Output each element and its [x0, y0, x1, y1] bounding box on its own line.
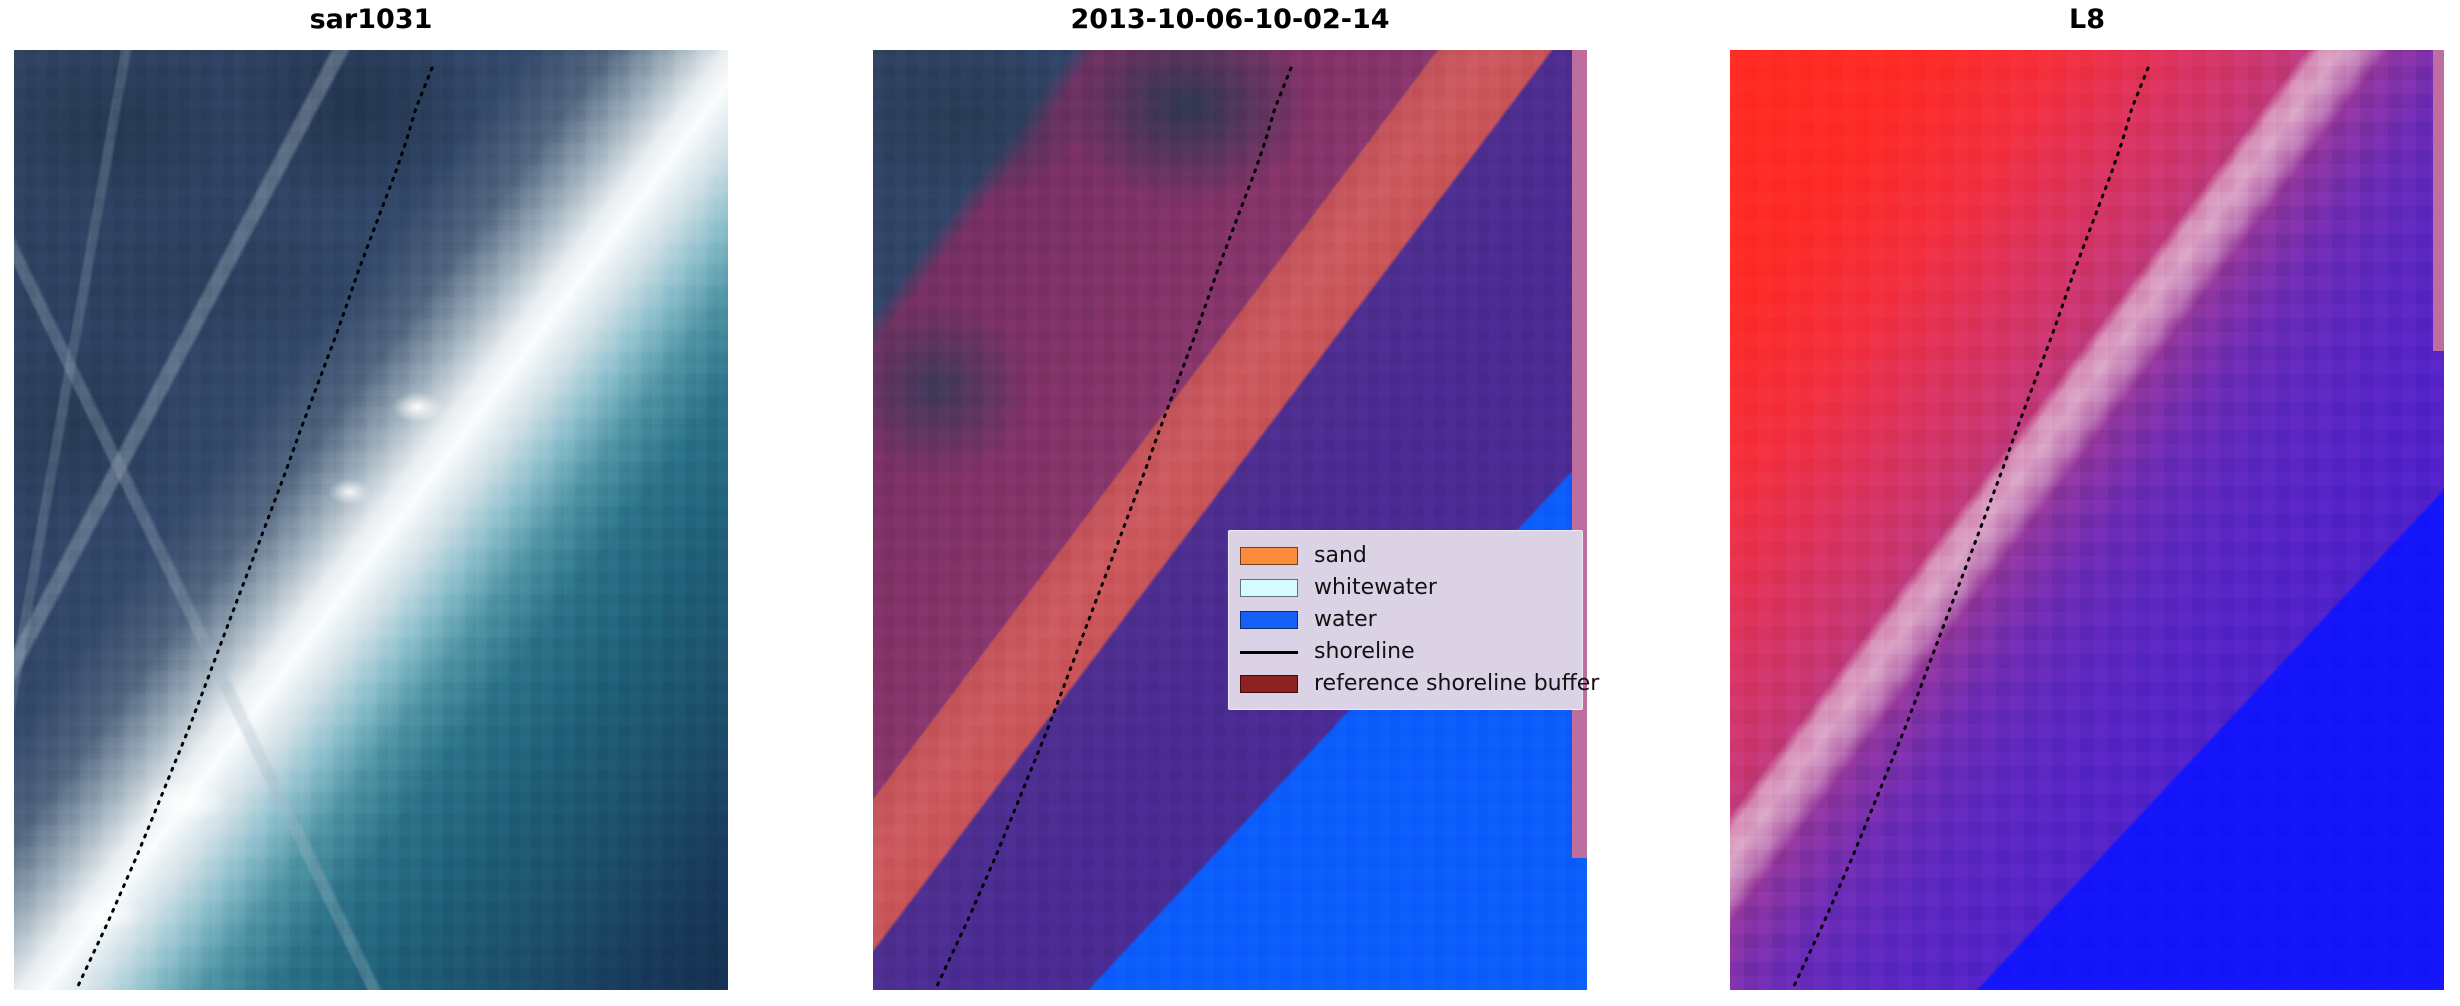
- panel-classified-title-wrap: 2013-10-06-10-02-14: [873, 0, 1587, 46]
- whitewater-swatch-icon: [1240, 579, 1298, 597]
- panel-classified[interactable]: [873, 50, 1587, 990]
- legend-item-water[interactable]: water: [1240, 604, 1572, 636]
- legend-item-label: water: [1314, 609, 1377, 631]
- legend-item-whitewater[interactable]: whitewater: [1240, 572, 1572, 604]
- panel-classified-image: [873, 50, 1587, 990]
- pixel-texture-layer: [873, 50, 1587, 990]
- buffer-edge-strip: [2433, 50, 2444, 351]
- legend-item-label: sand: [1314, 545, 1367, 567]
- panel-sar1031-image: [14, 50, 728, 990]
- figure-canvas: sar1031 2013-10-06-10-02-14: [0, 0, 2460, 1006]
- shoreline-line-icon: [1240, 651, 1298, 654]
- buffer-edge-strip: [1572, 50, 1587, 858]
- panel-l8-title-wrap: L8: [1730, 0, 2444, 46]
- panel-title: L8: [1730, 4, 2444, 35]
- panel-title: 2013-10-06-10-02-14: [873, 4, 1587, 35]
- panel-title: sar1031: [14, 4, 728, 35]
- pixel-texture-layer: [14, 50, 728, 990]
- legend[interactable]: sand whitewater water shoreline referenc…: [1228, 530, 1583, 710]
- reference-shoreline-buffer-swatch-icon: [1240, 675, 1298, 693]
- panel-sar1031[interactable]: [14, 50, 728, 990]
- panel-l8[interactable]: [1730, 50, 2444, 990]
- legend-item-sand[interactable]: sand: [1240, 540, 1572, 572]
- water-swatch-icon: [1240, 611, 1298, 629]
- legend-item-shoreline[interactable]: shoreline: [1240, 636, 1572, 668]
- panel-l8-image: [1730, 50, 2444, 990]
- legend-item-label: shoreline: [1314, 641, 1415, 663]
- pixel-texture-layer: [1730, 50, 2444, 990]
- sand-swatch-icon: [1240, 547, 1298, 565]
- legend-item-reference-shoreline-buffer[interactable]: reference shoreline buffer: [1240, 668, 1572, 700]
- panel-sar1031-title-wrap: sar1031: [14, 0, 728, 46]
- legend-item-label: reference shoreline buffer: [1314, 673, 1599, 695]
- legend-item-label: whitewater: [1314, 577, 1437, 599]
